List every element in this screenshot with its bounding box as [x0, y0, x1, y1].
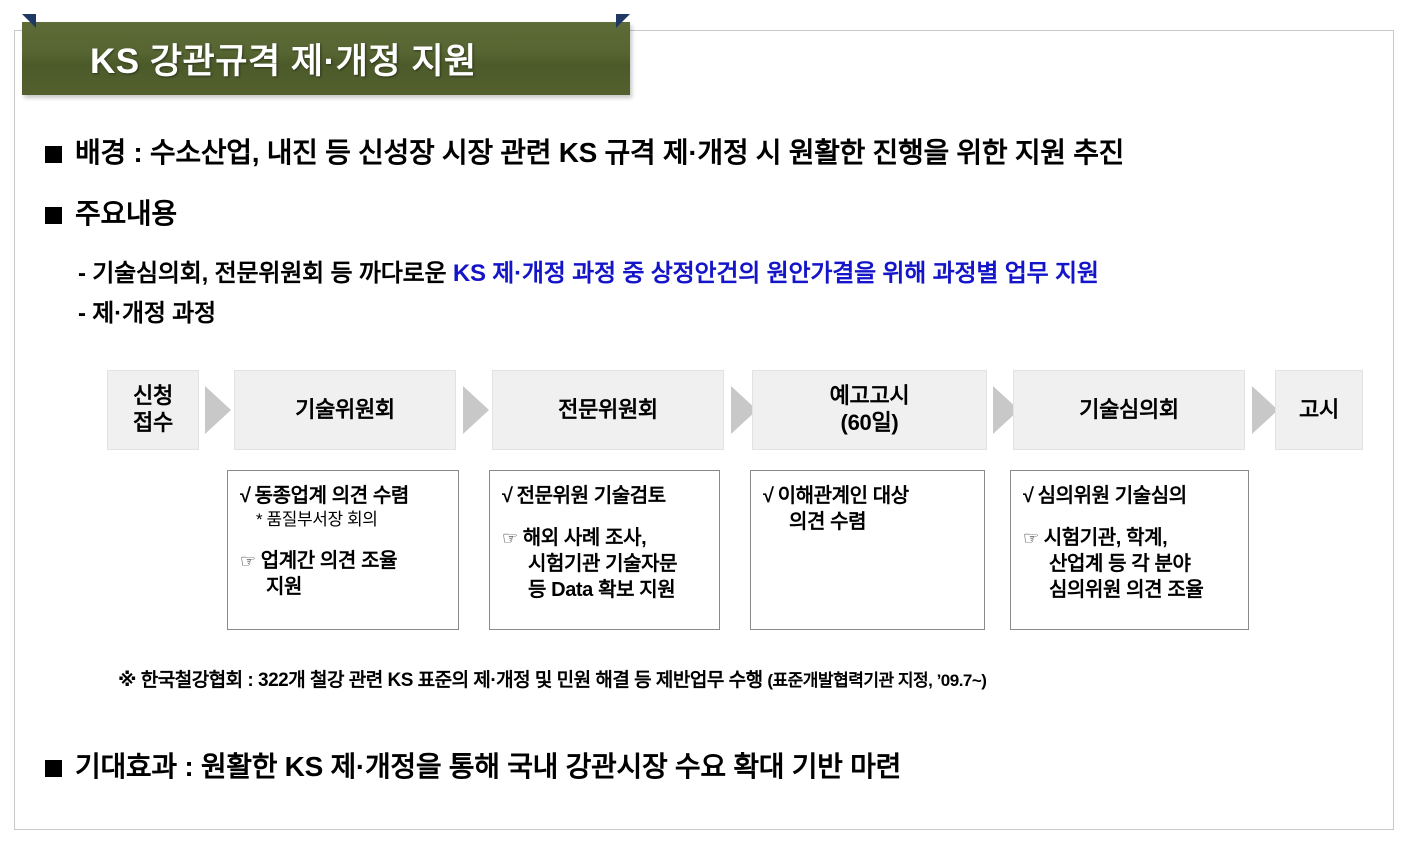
detail-3-check-text-2: 의견 수렴 — [763, 509, 974, 535]
square-bullet-icon — [45, 760, 62, 777]
footnote-main-text: 한국철강협회 : 322개 철강 관련 KS 표준의 제·개정 및 민원 해결 … — [141, 670, 763, 691]
detail-2-check-line: √전문위원 기술검토 — [502, 483, 709, 509]
main-item-1-blue: KS 제·개정 과정 중 상정안건의 원안가결을 위해 과정별 업무 지원 — [453, 260, 1099, 287]
detail-1-check-line: √동종업계 의견 수렴 — [240, 483, 448, 509]
effect-bullet-row: 기대효과 : 원활한 KS 제·개정을 통해 국내 강관시장 수요 확대 기반 … — [45, 745, 901, 785]
square-bullet-icon — [45, 207, 62, 224]
detail-box-3: √이해관계인 대상 의견 수렴 — [750, 470, 985, 630]
dash-marker-2: - — [78, 300, 86, 327]
check-marker-icon: √ — [240, 485, 251, 507]
detail-4-hand-text-3: 심의위원 의견 조율 — [1023, 577, 1238, 603]
detail-3-check-line: √이해관계인 대상 — [763, 483, 974, 509]
detail-2-hand-text-1: 해외 사례 조사, — [523, 527, 646, 549]
detail-3-check-text: 이해관계인 대상 — [778, 485, 909, 507]
flow-step-5[interactable]: 기술심의회 — [1013, 370, 1245, 450]
detail-box-1: √동종업계 의견 수렴 * 품질부서장 회의 ☞업계간 의견 조율 지원 — [227, 470, 459, 630]
spacer — [1023, 509, 1238, 525]
main-item-2: - 제·개정 과정 — [78, 293, 216, 328]
asterisk-reference-icon: ※ — [118, 670, 136, 691]
flow-step-6-label: 고시 — [1299, 397, 1339, 424]
detail-4-check-line: √심의위원 기술심의 — [1023, 483, 1238, 509]
check-marker-icon: √ — [763, 485, 774, 507]
main-item-1-black: 기술심의회, 전문위원회 등 까다로운 — [92, 260, 453, 287]
square-bullet-icon — [45, 146, 62, 163]
check-marker-icon: √ — [1023, 485, 1034, 507]
pointing-hand-icon: ☞ — [502, 528, 518, 548]
detail-1-hand-line-1: ☞업계간 의견 조율 — [240, 548, 448, 574]
flow-step-1-line2: 접수 — [133, 410, 173, 435]
detail-box-2: √전문위원 기술검토 ☞해외 사례 조사, 시험기관 기술자문 등 Data 확… — [489, 470, 720, 630]
flow-step-4-line1: 예고고시 — [830, 383, 910, 408]
spacer — [502, 509, 709, 525]
main-item-2-black: 제·개정 과정 — [92, 300, 216, 327]
flow-step-4-line2: (60일) — [841, 410, 899, 435]
main-content-bullet-row: 주요내용 — [45, 192, 177, 232]
detail-1-hand-text-2: 지원 — [240, 574, 448, 600]
main-content-heading: 주요내용 — [75, 192, 177, 232]
spacer — [240, 532, 448, 548]
footnote-paren-text: (표준개발협력기관 지정, ’09.7~) — [767, 671, 986, 690]
flow-step-2-label: 기술위원회 — [295, 397, 395, 424]
detail-4-hand-text-2: 산업계 등 각 분야 — [1023, 551, 1238, 577]
background-bullet-row: 배경 : 수소산업, 내진 등 신성장 시장 관련 KS 규격 제·개정 시 원… — [45, 131, 1124, 171]
detail-4-check-text: 심의위원 기술심의 — [1038, 485, 1187, 507]
flow-step-6[interactable]: 고시 — [1275, 370, 1363, 450]
detail-1-sub-text: * 품질부서장 회의 — [240, 509, 448, 532]
flow-step-3[interactable]: 전문위원회 — [492, 370, 724, 450]
pointing-hand-icon: ☞ — [1023, 528, 1039, 548]
detail-1-check-text: 동종업계 의견 수렴 — [255, 485, 409, 507]
detail-2-check-text: 전문위원 기술검토 — [517, 485, 666, 507]
title-banner: KS 강관규격 제·개정 지원 — [22, 22, 630, 95]
slide-root: KS 강관규격 제·개정 지원 배경 : 수소산업, 내진 등 신성장 시장 관… — [0, 0, 1409, 861]
detail-2-hand-line-1: ☞해외 사례 조사, — [502, 525, 709, 551]
detail-2-hand-text-2: 시험기관 기술자문 — [502, 551, 709, 577]
effect-text: 기대효과 : 원활한 KS 제·개정을 통해 국내 강관시장 수요 확대 기반 … — [75, 745, 901, 785]
flow-step-1[interactable]: 신청 접수 — [107, 370, 199, 450]
footnote-row: ※ 한국철강협회 : 322개 철강 관련 KS 표준의 제·개정 및 민원 해… — [118, 665, 986, 692]
check-marker-icon: √ — [502, 485, 513, 507]
detail-4-hand-text-1: 시험기관, 학계, — [1044, 527, 1167, 549]
flow-step-5-label: 기술심의회 — [1079, 397, 1179, 424]
flow-step-1-line1: 신청 — [133, 383, 173, 408]
dash-marker-1: - — [78, 260, 86, 287]
flow-step-4-label: 예고고시 (60일) — [830, 383, 910, 437]
page-title: KS 강관규격 제·개정 지원 — [22, 33, 477, 84]
detail-box-4: √심의위원 기술심의 ☞시험기관, 학계, 산업계 등 각 분야 심의위원 의견… — [1010, 470, 1249, 630]
detail-4-hand-line-1: ☞시험기관, 학계, — [1023, 525, 1238, 551]
detail-2-hand-text-3: 등 Data 확보 지원 — [502, 577, 709, 603]
flow-step-4[interactable]: 예고고시 (60일) — [752, 370, 987, 450]
main-item-1: - 기술심의회, 전문위원회 등 까다로운 KS 제·개정 과정 중 상정안건의… — [78, 253, 1099, 288]
flow-step-2[interactable]: 기술위원회 — [234, 370, 456, 450]
pointing-hand-icon: ☞ — [240, 551, 256, 571]
background-text: 배경 : 수소산업, 내진 등 신성장 시장 관련 KS 규격 제·개정 시 원… — [75, 131, 1124, 171]
detail-1-hand-text-1: 업계간 의견 조율 — [261, 550, 397, 572]
flow-step-3-label: 전문위원회 — [558, 397, 658, 424]
flow-step-1-label: 신청 접수 — [133, 383, 173, 437]
